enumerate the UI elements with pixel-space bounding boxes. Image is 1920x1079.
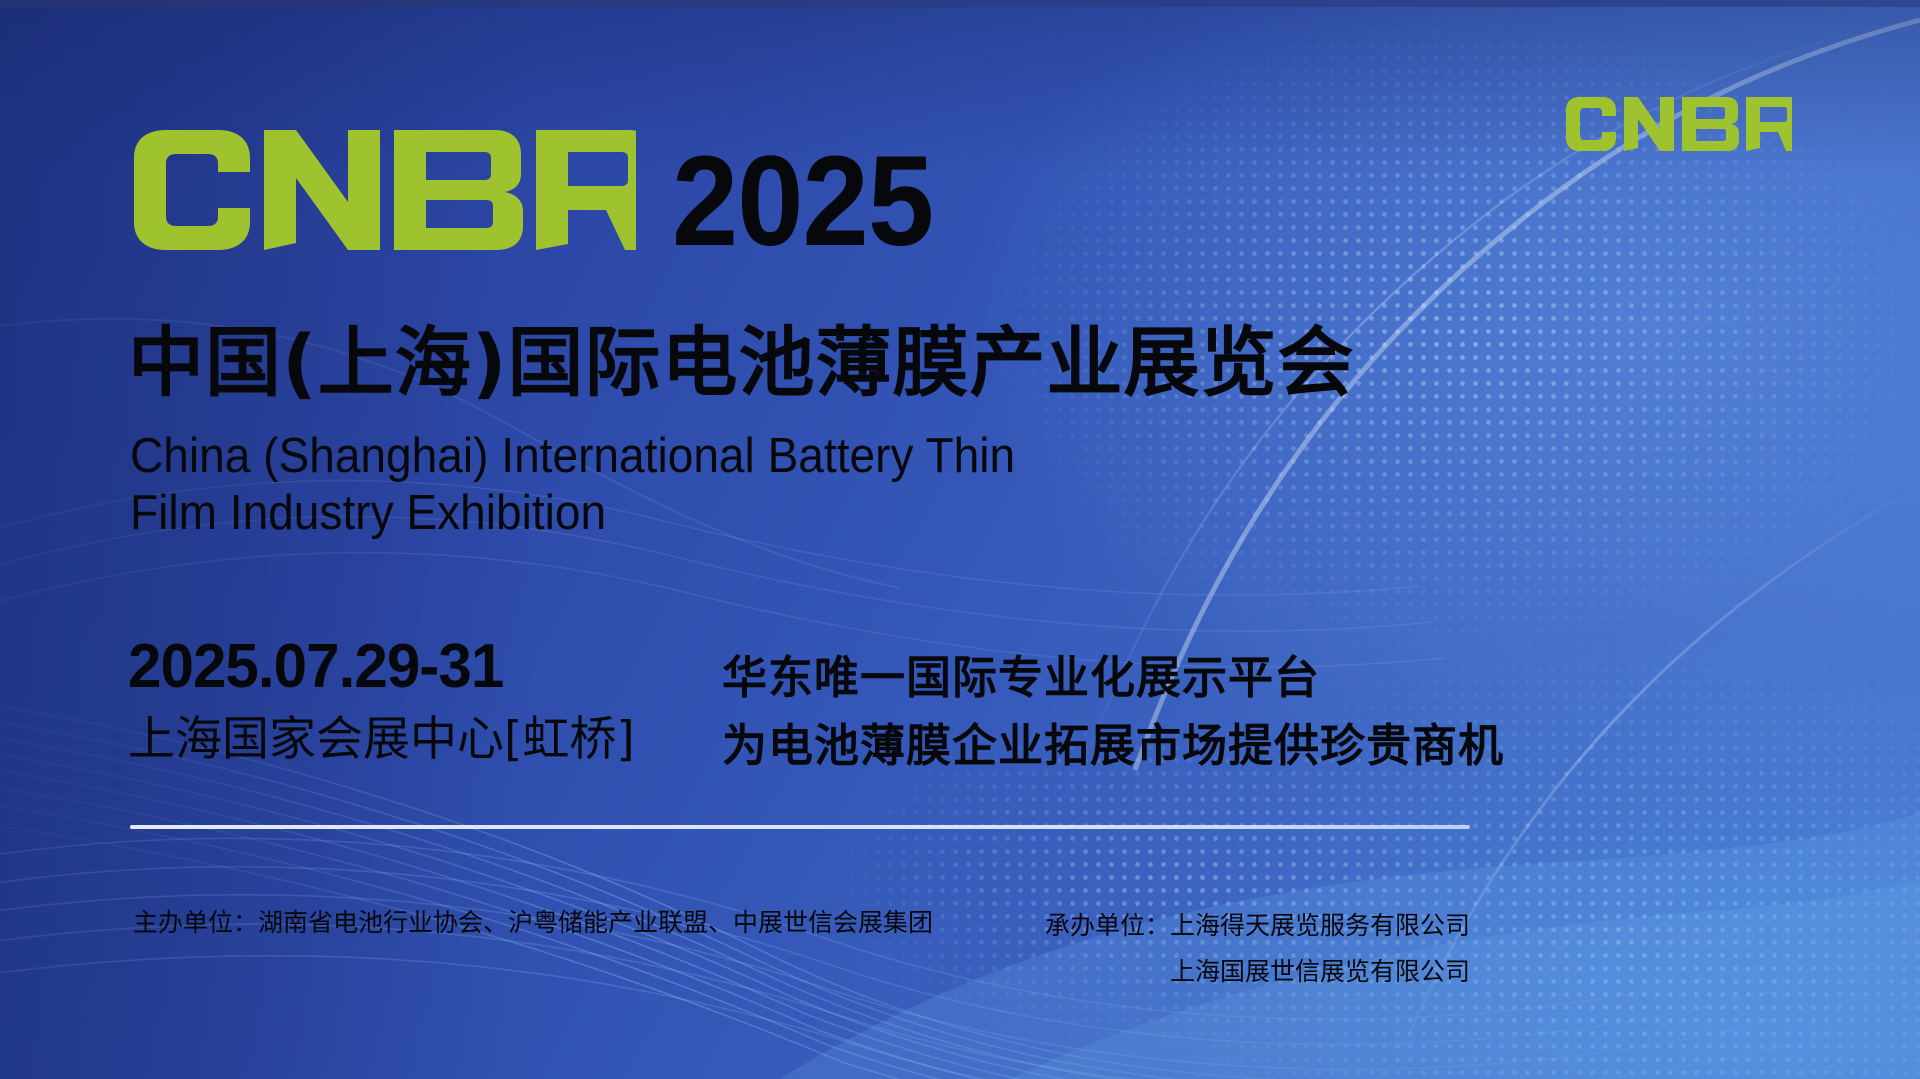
slogan-line-1: 华东唯一国际专业化展示平台	[722, 644, 1504, 712]
slogan-block: 华东唯一国际专业化展示平台 为电池薄膜企业拓展市场提供珍贵商机	[722, 644, 1504, 781]
title-english-line-1: China (Shanghai) International Battery T…	[130, 428, 1015, 485]
year-label: 2025	[672, 147, 933, 257]
slogan-line-2: 为电池薄膜企业拓展市场提供珍贵商机	[722, 712, 1504, 780]
headline-row: 2025	[128, 128, 953, 257]
event-date: 2025.07.29-31	[128, 634, 619, 699]
exhibition-banner: 2025 中国(上海)国际电池薄膜产业展览会 China (Shanghai) …	[0, 0, 1920, 1079]
event-venue: 上海国家会展中心[虹桥]	[128, 715, 635, 766]
date-venue-block: 2025.07.29-31 上海国家会展中心[虹桥]	[128, 634, 635, 766]
title-chinese: 中国(上海)国际电池薄膜产业展览会	[128, 325, 1354, 401]
co-organizer-block: 承办单位：上海得天展览服务有限公司 上海国展世信展览有限公司	[990, 903, 1470, 996]
cnbr-logo	[128, 128, 636, 257]
organizer-line: 主办单位：湖南省电池行业协会、沪粤储能产业联盟、中展世信会展集团	[133, 903, 933, 943]
title-english-line-2: Film Industry Exhibition	[130, 485, 1015, 542]
co-organizer-line-2: 上海国展世信展览有限公司	[990, 949, 1470, 995]
cnbr-corner-logo	[1562, 96, 1792, 152]
title-english: China (Shanghai) International Battery T…	[130, 428, 1015, 543]
horizontal-divider	[130, 825, 1470, 829]
banner-content: 2025 中国(上海)国际电池薄膜产业展览会 China (Shanghai) …	[0, 0, 1920, 1079]
co-organizer-line-1: 承办单位：上海得天展览服务有限公司	[990, 903, 1470, 949]
